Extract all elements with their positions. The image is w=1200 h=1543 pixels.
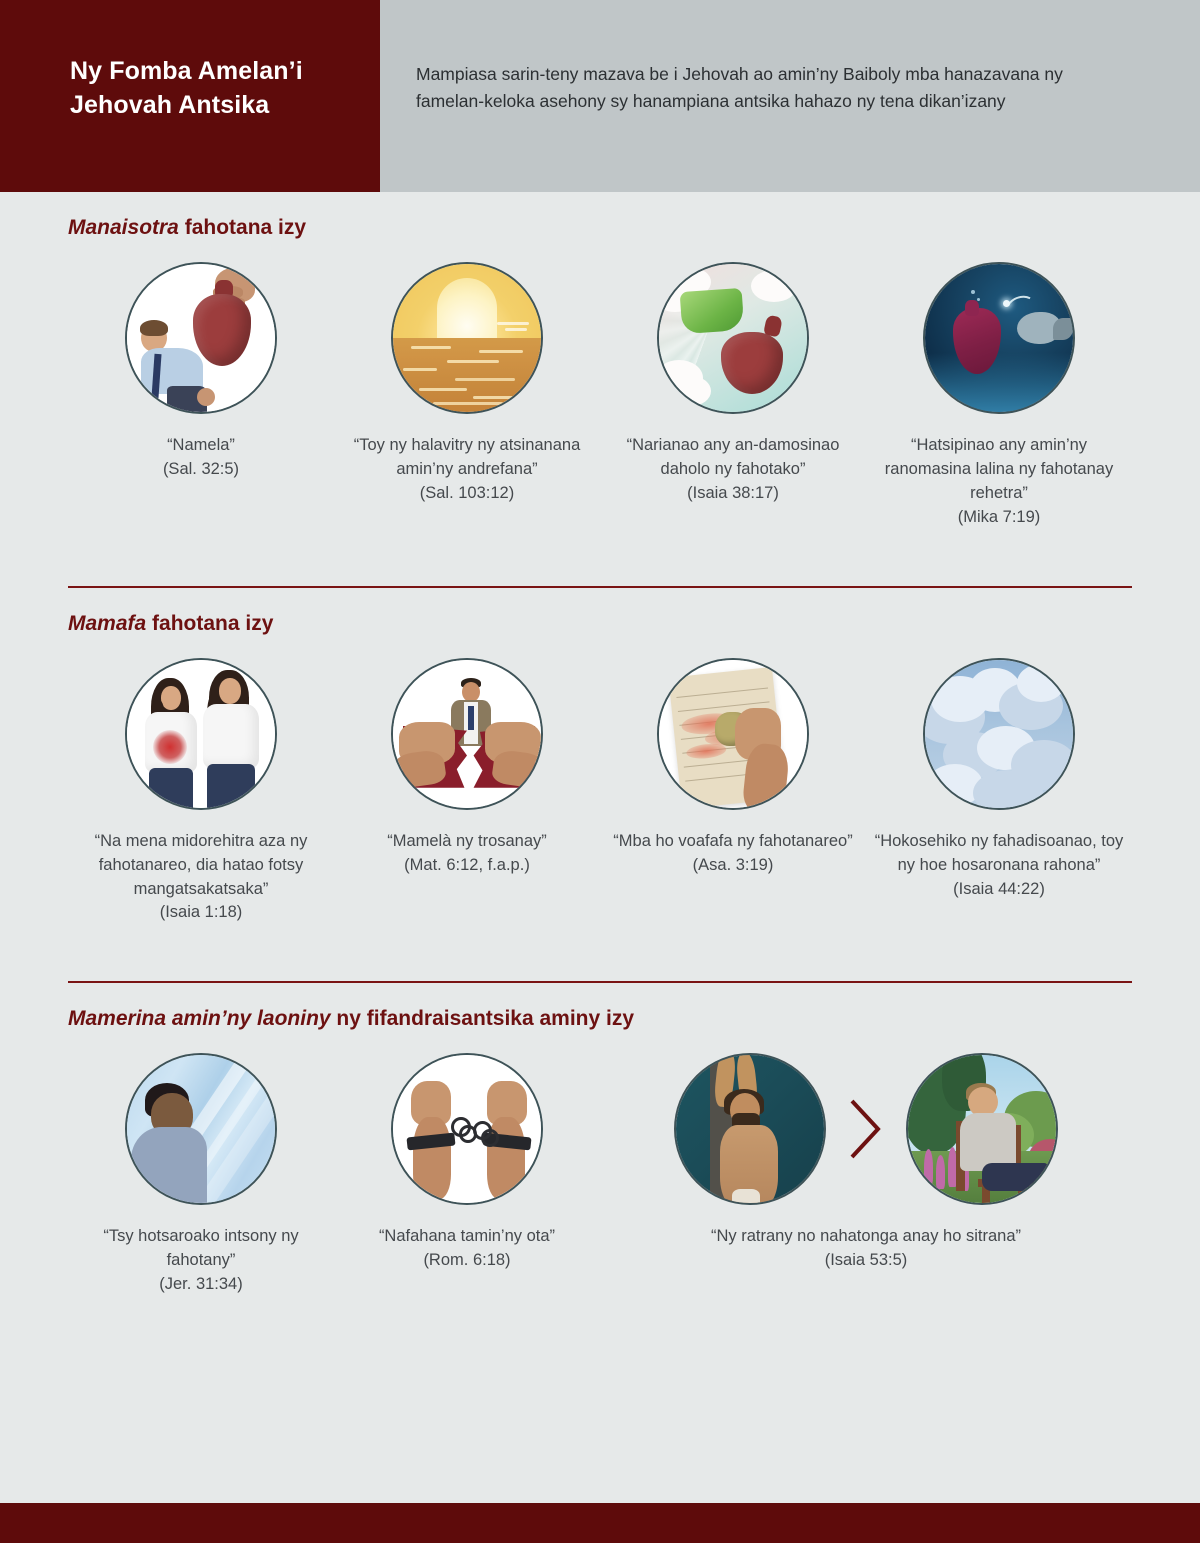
section-heading-2: Mamafa fahotana izy [68, 588, 1132, 636]
quote-text: “Tsy hotsaroako intsony ny fahotany” [103, 1227, 298, 1269]
scripture-ref: (Isaia 44:22) [874, 878, 1124, 902]
section-heading-3: Mamerina amin’ny laoniny ny fifandraisan… [68, 983, 1132, 1031]
caption-tsy-hotsaroako: “Tsy hotsaroako intsony ny fahotany” (Je… [76, 1225, 326, 1297]
section-mamafa: Mamafa fahotana izy [68, 586, 1132, 926]
quote-text: “Namela” [167, 436, 235, 454]
item-narianao: “Narianao any an-damosinao daholo ny fah… [600, 262, 866, 506]
section-heading-3-rest: ny fifandraisantsika aminy izy [331, 1007, 634, 1030]
caption-ratrany: “Ny ratrany no nahatonga anay ho sitrana… [711, 1225, 1021, 1273]
sack-in-deep-sea-icon [923, 262, 1075, 414]
icon-row-2: “Na mena midorehitra aza ny fahotanareo,… [68, 658, 1132, 926]
item-rahona: “Hokosehiko ny fahadisoanao, toy ny hoe … [866, 658, 1132, 902]
scripture-ref: (Sal. 32:5) [163, 458, 239, 482]
man-with-sack-lifted-icon [125, 262, 277, 414]
sack-thrown-behind-back-icon [657, 262, 809, 414]
jesus-on-stake-icon [674, 1053, 826, 1205]
scripture-ref: (Asa. 3:19) [613, 854, 852, 878]
caption-mamela-trosanay: “Mamelà ny trosanay” (Mat. 6:12, f.a.p.) [387, 830, 547, 878]
section-heading-2-rest: fahotana izy [146, 612, 273, 635]
section-heading-1-rest: fahotana izy [179, 216, 306, 239]
item-halavitry: “Toy ny halavitry ny atsinanana amin’ny … [334, 262, 600, 506]
item-voafafa: “Mba ho voafafa ny fahotanareo” (Asa. 3:… [600, 658, 866, 878]
man-looking-up-icon [125, 1053, 277, 1205]
scripture-ref: (Mika 7:19) [874, 506, 1124, 530]
quote-text: “Mamelà ny trosanay” [387, 832, 547, 850]
torn-debt-paper-icon [391, 658, 543, 810]
man-resting-on-bench-icon [906, 1053, 1058, 1205]
quote-text: “Toy ny halavitry ny atsinanana amin’ny … [354, 436, 581, 478]
section-heading-2-emphasis: Mamafa [68, 612, 146, 635]
quote-text: “Nafahana tamin’ny ota” [379, 1227, 555, 1245]
caption-halavitry: “Toy ny halavitry ny atsinanana amin’ny … [342, 434, 592, 506]
item-hatsipinao: “Hatsipinao any amin’ny ranomasina lalin… [866, 262, 1132, 530]
clouds-icon [923, 658, 1075, 810]
chevron-right-arrow [826, 1053, 906, 1205]
quote-text: “Mba ho voafafa ny fahotanareo” [613, 832, 852, 850]
header-title-block: Ny Fomba Amelan’i Jehovah Antsika [0, 0, 380, 192]
scripture-ref: (Mat. 6:12, f.a.p.) [387, 854, 547, 878]
caption-rahona: “Hokosehiko ny fahadisoanao, toy ny hoe … [874, 830, 1124, 902]
caption-mena-midorehitra: “Na mena midorehitra aza ny fahotanareo,… [76, 830, 326, 926]
sunset-over-sea-icon [391, 262, 543, 414]
item-nafahana: “Nafahana tamin’ny ota” (Rom. 6:18) [334, 1053, 600, 1273]
caption-narianao: “Narianao any an-damosinao daholo ny fah… [608, 434, 858, 506]
caption-hatsipinao: “Hatsipinao any amin’ny ranomasina lalin… [874, 434, 1124, 530]
scripture-ref: (Isaia 53:5) [711, 1249, 1021, 1273]
scripture-ref: (Sal. 103:12) [342, 482, 592, 506]
page-subtitle: Mampiasa sarin-teny mazava be i Jehovah … [416, 61, 1116, 114]
caption-namela: “Namela” (Sal. 32:5) [163, 434, 239, 482]
scripture-ref: (Isaia 38:17) [608, 482, 858, 506]
broken-shackles-icon [391, 1053, 543, 1205]
section-mamerina: Mamerina amin’ny laoniny ny fifandraisan… [68, 981, 1132, 1297]
page-header: Ny Fomba Amelan’i Jehovah Antsika Mampia… [0, 0, 1200, 192]
page-content: Manaisotra fahotana izy [0, 192, 1200, 1297]
section-manaisotra: Manaisotra fahotana izy [68, 192, 1132, 530]
scripture-ref: (Rom. 6:18) [379, 1249, 555, 1273]
section-heading-3-emphasis: Mamerina amin’ny laoniny [68, 1007, 331, 1030]
quote-text: “Hokosehiko ny fahadisoanao, toy ny hoe … [875, 832, 1124, 874]
footer-bar [0, 1503, 1200, 1543]
stained-and-clean-shirt-icon [125, 658, 277, 810]
quote-text: “Na mena midorehitra aza ny fahotanareo,… [95, 832, 308, 898]
caption-nafahana: “Nafahana tamin’ny ota” (Rom. 6:18) [379, 1225, 555, 1273]
page-title: Ny Fomba Amelan’i Jehovah Antsika [70, 55, 380, 123]
sponge-erasing-record-icon [657, 658, 809, 810]
section-heading-1: Manaisotra fahotana izy [68, 192, 1132, 240]
quote-text: “Hatsipinao any amin’ny ranomasina lalin… [885, 436, 1113, 502]
item-namela: “Namela” (Sal. 32:5) [68, 262, 334, 482]
icon-row-3: “Tsy hotsaroako intsony ny fahotany” (Je… [68, 1053, 1132, 1297]
quote-text: “Narianao any an-damosinao daholo ny fah… [627, 436, 840, 478]
icon-row-1: “Namela” (Sal. 32:5) [68, 262, 1132, 530]
item-ratrany: “Ny ratrany no nahatonga anay ho sitrana… [600, 1053, 1132, 1273]
caption-voafafa: “Mba ho voafafa ny fahotanareo” (Asa. 3:… [613, 830, 852, 878]
section-heading-1-emphasis: Manaisotra [68, 216, 179, 239]
item-mamela-trosanay: “Mamelà ny trosanay” (Mat. 6:12, f.a.p.) [334, 658, 600, 878]
scripture-ref: (Jer. 31:34) [76, 1273, 326, 1297]
header-subtitle-block: Mampiasa sarin-teny mazava be i Jehovah … [380, 0, 1200, 192]
quote-text: “Ny ratrany no nahatonga anay ho sitrana… [711, 1227, 1021, 1245]
item-tsy-hotsaroako: “Tsy hotsaroako intsony ny fahotany” (Je… [68, 1053, 334, 1297]
item-mena-midorehitra: “Na mena midorehitra aza ny fahotanareo,… [68, 658, 334, 926]
scripture-ref: (Isaia 1:18) [76, 901, 326, 925]
